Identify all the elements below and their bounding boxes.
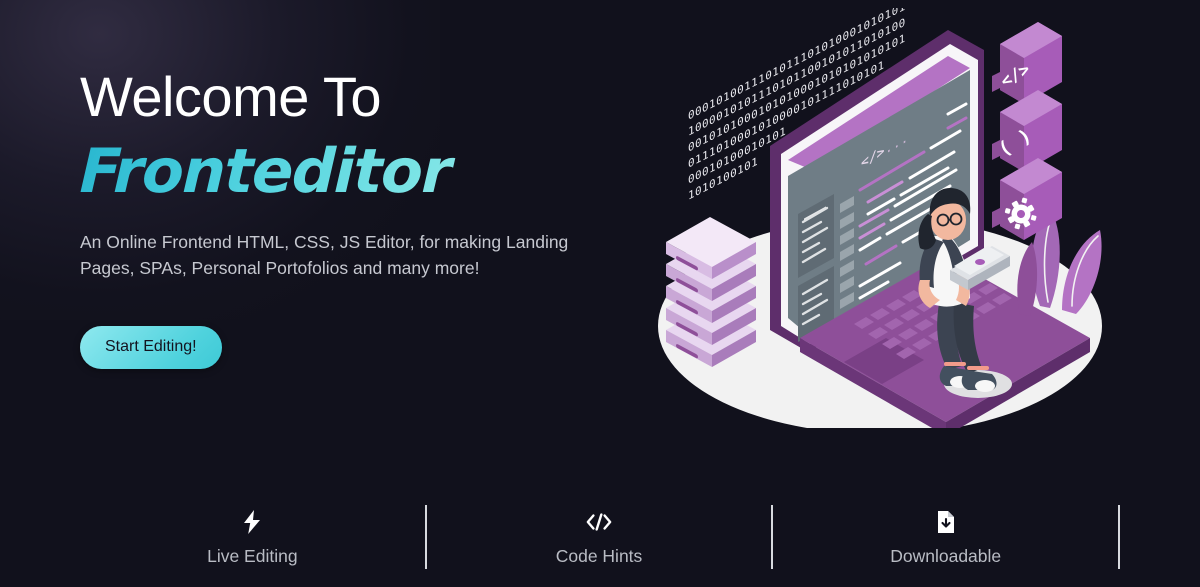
code-tag-badge: </> [992,22,1062,104]
landing-page-hero: Welcome To Fronteditor An Online Fronten… [0,0,1200,587]
feature-downloadable[interactable]: Downloadable [773,487,1118,587]
start-editing-button[interactable]: Start Editing! [80,326,222,369]
feature-live-editing[interactable]: Live Editing [80,487,425,587]
feature-bar: Live Editing Code Hints [80,487,1120,587]
file-download-icon [933,509,959,535]
hero-tagline: An Online Frontend HTML, CSS, JS Editor,… [80,229,600,282]
page-title: Welcome To [80,68,680,127]
developer-workspace-illustration: 0001010011101011101010001010101 10000101… [648,8,1128,428]
feature-label: Live Editing [207,548,297,566]
feature-label: Downloadable [890,548,1001,566]
feature-badges: </> ( ) [992,22,1062,240]
hero-copy: Welcome To Fronteditor An Online Fronten… [80,68,680,369]
server-stack [666,217,756,367]
feature-divider [1118,505,1120,569]
code-brackets-icon [586,509,612,535]
feature-label: Code Hints [556,548,643,566]
feature-code-hints[interactable]: Code Hints [427,487,772,587]
lightning-bolt-icon [239,509,265,535]
parentheses-badge: ( ) [992,90,1062,172]
brand-wordmark: Fronteditor [79,141,681,202]
